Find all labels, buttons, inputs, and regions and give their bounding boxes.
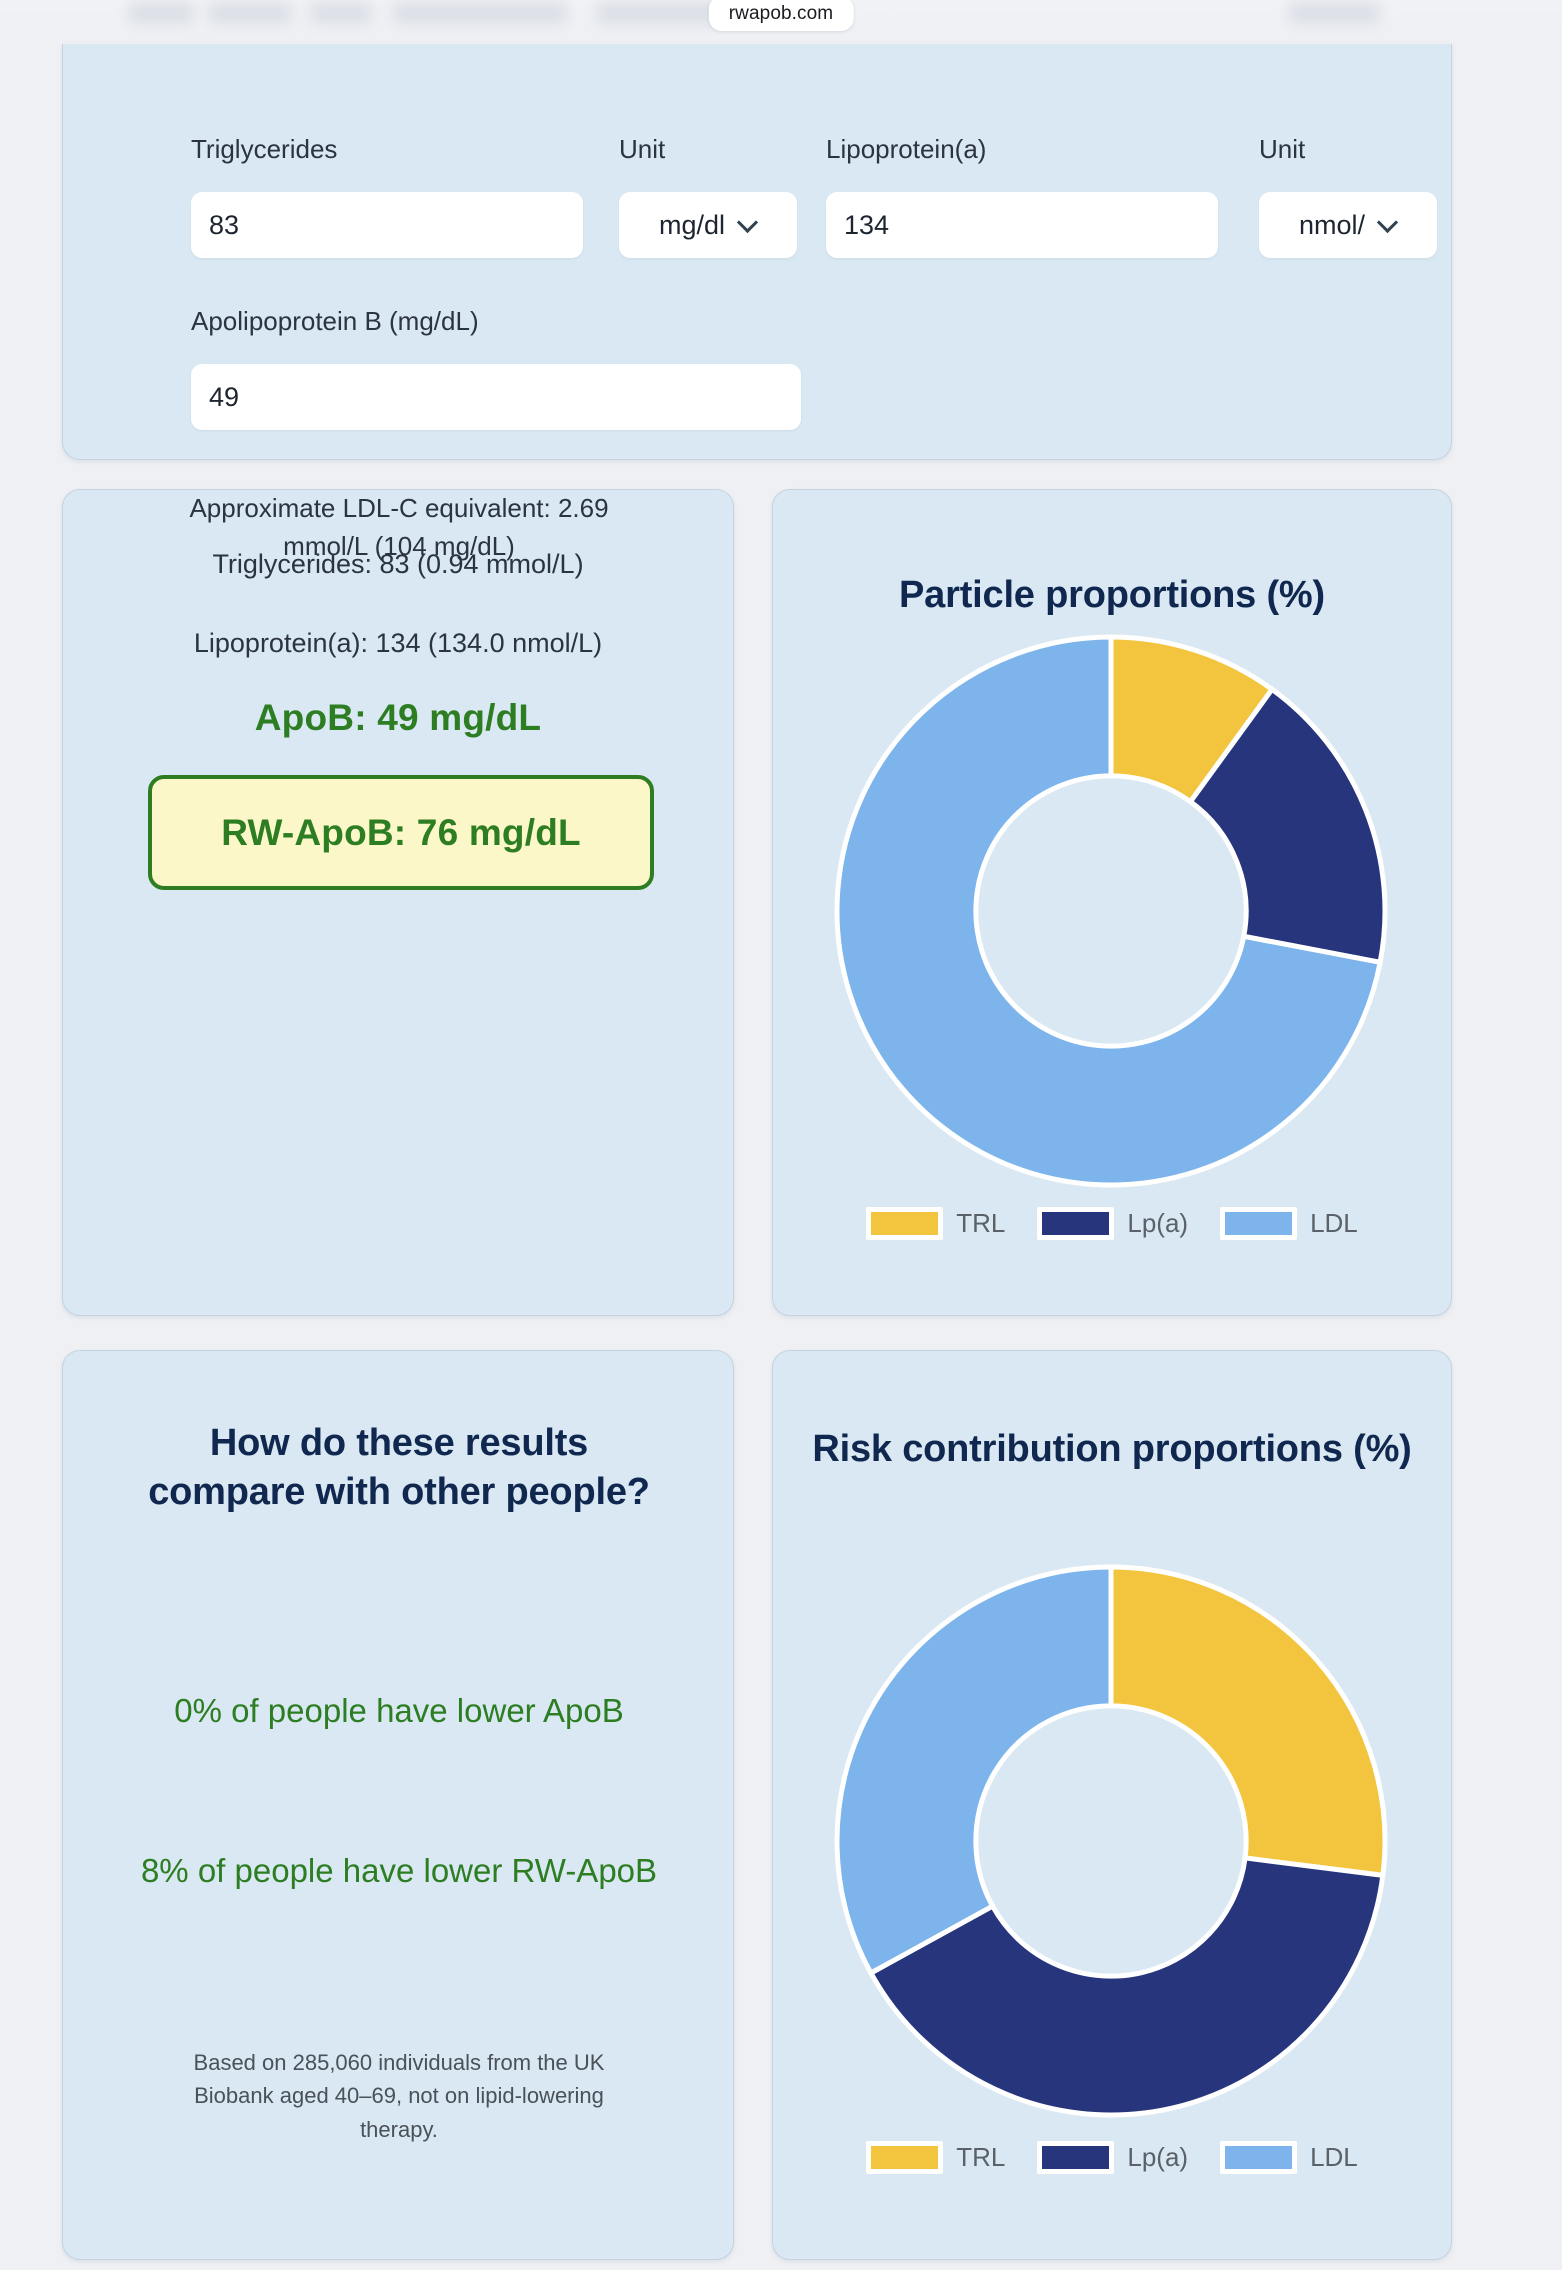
legend-label: Lp(a) [1127, 2142, 1188, 2173]
ldlc-equivalent-result: Approximate LDL-C equivalent: 2.69 mmol/… [173, 490, 625, 565]
legend-swatch-icon [1220, 1207, 1297, 1240]
legend-item-lpa[interactable]: Lp(a) [1021, 1207, 1204, 1240]
legend-label: Lp(a) [1127, 1208, 1188, 1239]
chrome-blur-1 [128, 2, 194, 24]
chrome-blur-3 [310, 2, 372, 24]
chrome-blur-4 [392, 2, 568, 24]
particle-proportions-legend: TRLLp(a)LDL [773, 1207, 1451, 1240]
legend-item-lpa[interactable]: Lp(a) [1021, 2141, 1204, 2174]
inputs-card: Triglycerides Unit Lipoprotein(a) Unit m… [62, 44, 1452, 460]
legend-swatch-icon [1037, 2141, 1114, 2174]
url-pill[interactable]: rwapob.com [709, 0, 854, 31]
chrome-blur-5 [596, 2, 724, 24]
risk-contribution-legend: TRLLp(a)LDL [773, 2141, 1451, 2174]
lipoprotein-a-label: Lipoprotein(a) [826, 134, 986, 165]
legend-label: LDL [1310, 2142, 1358, 2173]
triglycerides-label: Triglycerides [191, 134, 337, 165]
population-comparison-card: How do these results compare with other … [62, 1350, 734, 2260]
donut-svg [831, 631, 1391, 1191]
results-card: Triglycerides: 83 (0.94 mmol/L) Lipoprot… [62, 489, 734, 1316]
chrome-blur-2 [208, 2, 292, 24]
particle-proportions-card: Particle proportions (%) TRLLp(a)LDL [772, 489, 1452, 1316]
legend-swatch-icon [1220, 2141, 1297, 2174]
unit-1-select-value: mg/dl [659, 210, 725, 241]
unit-1-label: Unit [619, 134, 665, 165]
lipoprotein-a-result: Lipoprotein(a): 134 (134.0 nmol/L) [63, 625, 733, 661]
particle-proportions-title: Particle proportions (%) [773, 571, 1451, 620]
unit-1-select[interactable]: mg/dl [619, 192, 797, 258]
donut-slice-trl[interactable] [1111, 1567, 1385, 1875]
risk-contribution-title: Risk contribution proportions (%) [773, 1425, 1451, 1474]
legend-label: LDL [1310, 1208, 1358, 1239]
legend-item-ldl[interactable]: LDL [1204, 2141, 1374, 2174]
legend-swatch-icon [1037, 1207, 1114, 1240]
apob-percentile-text: 0% of people have lower ApoB [119, 1689, 679, 1734]
lipoprotein-a-input[interactable] [826, 192, 1218, 258]
donut-svg [831, 1561, 1391, 2121]
rw-apob-percentile-text: 8% of people have lower RW-ApoB [119, 1849, 679, 1894]
apob-result: ApoB: 49 mg/dL [63, 697, 733, 739]
page-root: rwapob.com Triglycerides Unit Lipoprotei… [0, 0, 1562, 2270]
unit-2-select[interactable]: nmol/ [1259, 192, 1437, 258]
apolipoprotein-b-input[interactable] [191, 364, 801, 430]
population-comparison-footnote: Based on 285,060 individuals from the UK… [159, 2046, 639, 2146]
risk-contribution-donut-chart [831, 1561, 1391, 2121]
particle-proportions-donut-chart [831, 631, 1391, 1191]
legend-label: TRL [956, 1208, 1005, 1239]
rw-apob-highlight-box: RW-ApoB: 76 mg/dL [148, 775, 654, 890]
donut-slice-ldl[interactable] [837, 1567, 1111, 1973]
unit-2-label: Unit [1259, 134, 1305, 165]
legend-item-trl[interactable]: TRL [850, 2141, 1021, 2174]
chevron-down-icon [1379, 213, 1397, 231]
chrome-blur-6 [1288, 2, 1380, 24]
unit-2-select-value: nmol/ [1299, 210, 1365, 241]
population-comparison-title: How do these results compare with other … [135, 1419, 663, 1518]
risk-contribution-card: Risk contribution proportions (%) TRLLp(… [772, 1350, 1452, 2260]
legend-item-ldl[interactable]: LDL [1204, 1207, 1374, 1240]
triglycerides-input[interactable] [191, 192, 583, 258]
apolipoprotein-b-label: Apolipoprotein B (mg/dL) [191, 306, 479, 337]
chevron-down-icon [739, 213, 757, 231]
legend-swatch-icon [866, 1207, 943, 1240]
legend-label: TRL [956, 2142, 1005, 2173]
legend-swatch-icon [866, 2141, 943, 2174]
rw-apob-result: RW-ApoB: 76 mg/dL [221, 812, 581, 854]
legend-item-trl[interactable]: TRL [850, 1207, 1021, 1240]
